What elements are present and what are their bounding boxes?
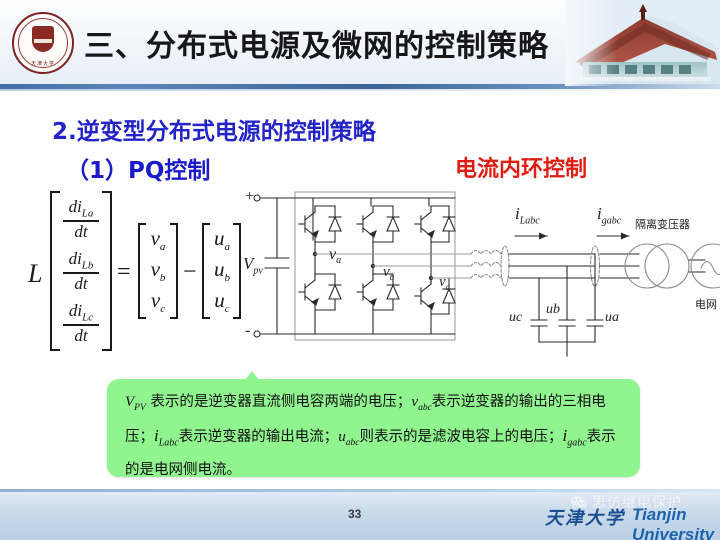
capacitor-ub-label: ub	[546, 302, 560, 318]
bracket-left-close	[102, 191, 112, 351]
phase-a-voltage-label: va	[329, 246, 341, 266]
circuit-schematic	[243, 184, 720, 374]
slide-canvas: 天津大学 三、分布式电源及微网的控制策略 2.逆变型分布式电源的控制策略 （1）…	[0, 0, 720, 540]
slide-body: 2.逆变型分布式电源的控制策略 （1）PQ控制 电流内环控制 L diLa dt…	[0, 91, 720, 489]
inductor-current-label: iLabc	[515, 204, 540, 226]
capacitor-ua-label: ua	[605, 310, 619, 326]
minus-sign: −	[183, 259, 197, 286]
callout-line3-a: 上的电压；	[490, 429, 563, 445]
explanation-callout: VPV 表示的是逆变器直流侧电容两端的电压；vabc表示逆变器的输出的三相电压；…	[107, 379, 640, 477]
seal-chinese-text: 天津大学	[14, 60, 72, 67]
symbol-vpv: VPV	[125, 394, 146, 410]
dc-plus-terminal: +	[245, 188, 254, 206]
symbol-ilabc: iLabc	[154, 426, 179, 445]
callout-line1-a: 表示的是逆变器直流侧电容两端的电压；	[150, 394, 411, 410]
red-annotation: 电流内环控制	[455, 151, 587, 183]
u-b: ub	[214, 258, 230, 284]
fraction-dilc-dt: diLc dt	[63, 302, 99, 344]
grid-current-label: igabc	[597, 204, 621, 226]
derivative-column: diLa dt diLb dt diLc dt	[60, 193, 102, 349]
u-a: ua	[214, 227, 230, 253]
isolation-transformer-label: 隔离变压器	[635, 216, 690, 232]
bracket-left-open	[50, 191, 60, 351]
voltage-v-column: va vb vc	[146, 225, 170, 317]
v-a: va	[151, 227, 166, 253]
bracket-u-open	[202, 223, 210, 319]
university-seal-logo: 天津大学	[12, 12, 74, 74]
callout-line2-c: 则表示的是滤波电容	[359, 429, 490, 445]
voltage-u-column: ua ub uc	[210, 225, 234, 317]
page-number: 33	[348, 507, 361, 521]
dc-source-label: Vpv	[243, 254, 263, 276]
equation-scalar-L: L	[28, 259, 42, 289]
fraction-dilb-dt: diLb dt	[63, 250, 99, 292]
wechat-watermark: 思仿继电保护	[570, 491, 720, 513]
state-equation: L diLa dt diLb dt diLc dt	[24, 191, 239, 356]
subsection-heading: （1）PQ控制	[66, 151, 210, 185]
watermark-text: 思仿继电保护	[592, 492, 682, 512]
section-heading: 2.逆变型分布式电源的控制策略	[52, 112, 376, 146]
wechat-icon	[570, 495, 588, 510]
callout-line2-b: 表示逆变器的输出电流；	[179, 429, 339, 445]
capacitor-uc-label: uc	[509, 310, 522, 326]
bracket-u-close	[233, 223, 241, 319]
bracket-v-close	[170, 223, 178, 319]
dc-minus-terminal: -	[245, 322, 250, 340]
v-b: vb	[151, 258, 166, 284]
symbol-uabc: uabc	[338, 429, 359, 445]
phase-b-voltage-label: vb	[383, 264, 394, 282]
callout-body: VPV 表示的是逆变器直流侧电容两端的电压；vabc表示逆变器的输出的三相电压；…	[125, 389, 630, 484]
equals-sign: =	[117, 259, 131, 286]
inverter-circuit-diagram: + - Vpv va vb vc iLabc igabc 隔离变压器 电网 uc…	[243, 184, 720, 374]
fraction-dila-dt: diLa dt	[63, 198, 99, 240]
symbol-vabc: vabc	[411, 394, 431, 410]
phase-c-voltage-label: vc	[439, 274, 450, 292]
page-title: 三、分布式电源及微网的控制策略	[84, 14, 554, 72]
symbol-igabc: igabc	[562, 426, 586, 445]
bracket-v-open	[138, 223, 146, 319]
slide-header: 天津大学 三、分布式电源及微网的控制策略	[0, 0, 720, 88]
callout-line1-b: 表示逆变器的输出	[432, 394, 548, 410]
campus-building-photo	[565, 0, 720, 86]
u-c: uc	[214, 289, 229, 315]
callout-tail	[245, 371, 259, 380]
grid-label: 电网	[695, 296, 717, 312]
v-c: vc	[151, 289, 165, 315]
